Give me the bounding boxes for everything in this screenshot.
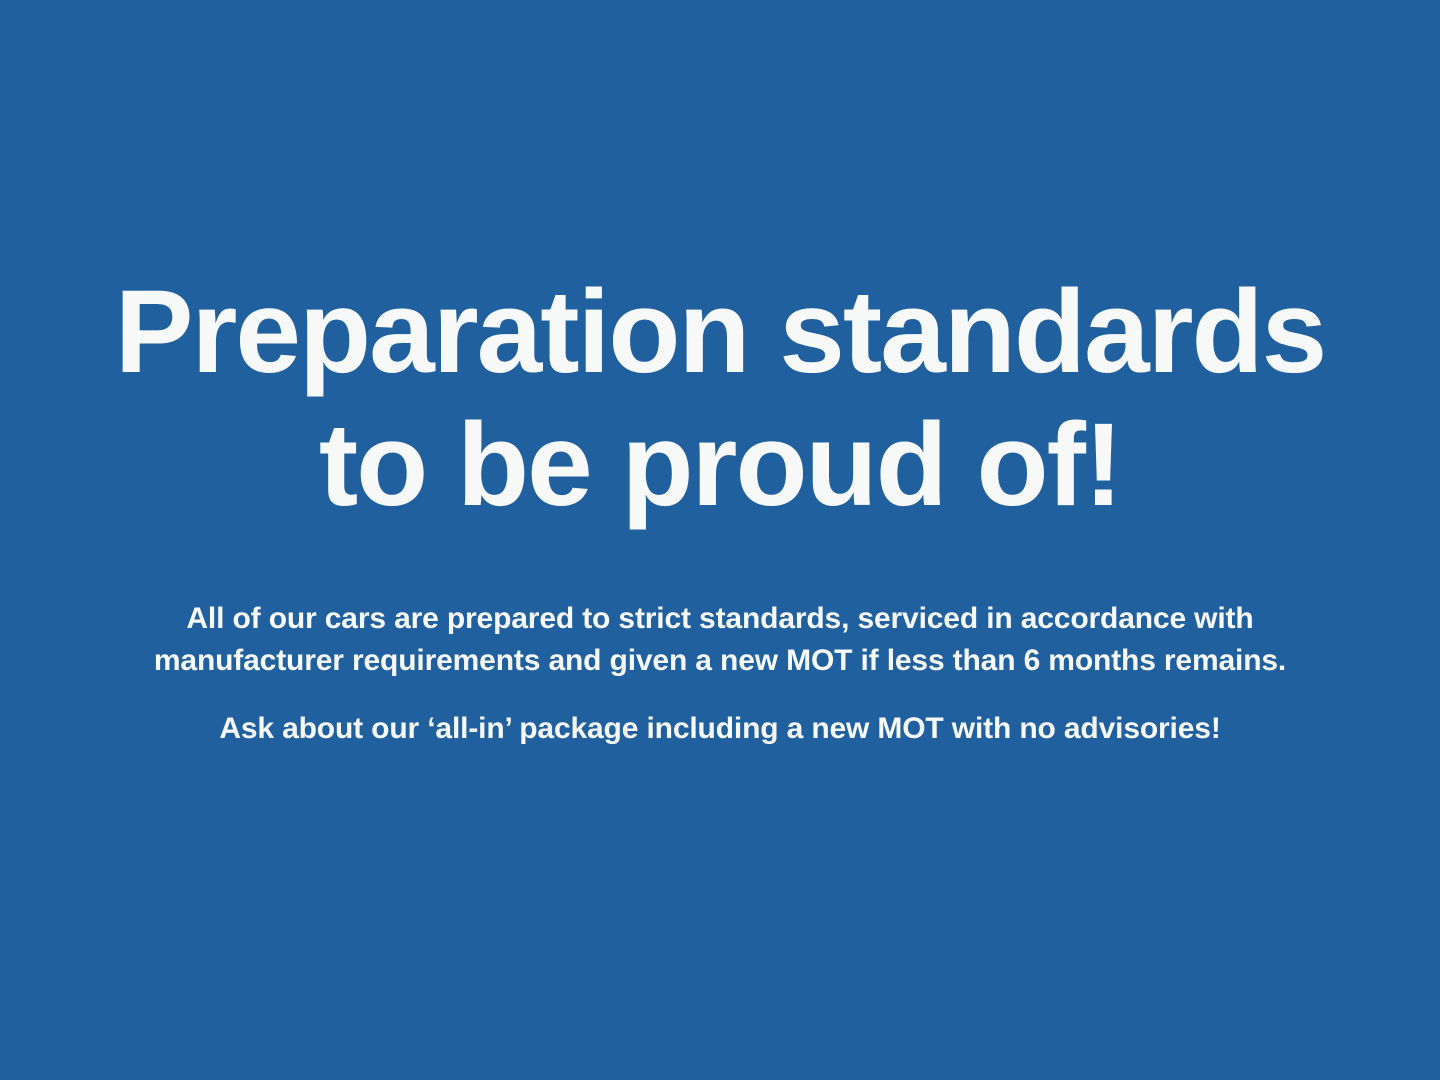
headline-line-1: Preparation standards [70, 266, 1370, 399]
all-in-package-callout: Ask about our ‘all-in’ package including… [98, 708, 1343, 750]
headline-line-2: to be proud of! [70, 399, 1370, 532]
promo-slide: Preparation standards to be proud of! Al… [0, 0, 1440, 1080]
body-text-block: All of our cars are prepared to strict s… [70, 598, 1370, 750]
preparation-description-paragraph: All of our cars are prepared to strict s… [98, 598, 1343, 682]
page-title: Preparation standards to be proud of! [70, 0, 1370, 532]
slide-content: Preparation standards to be proud of! Al… [70, 0, 1370, 750]
